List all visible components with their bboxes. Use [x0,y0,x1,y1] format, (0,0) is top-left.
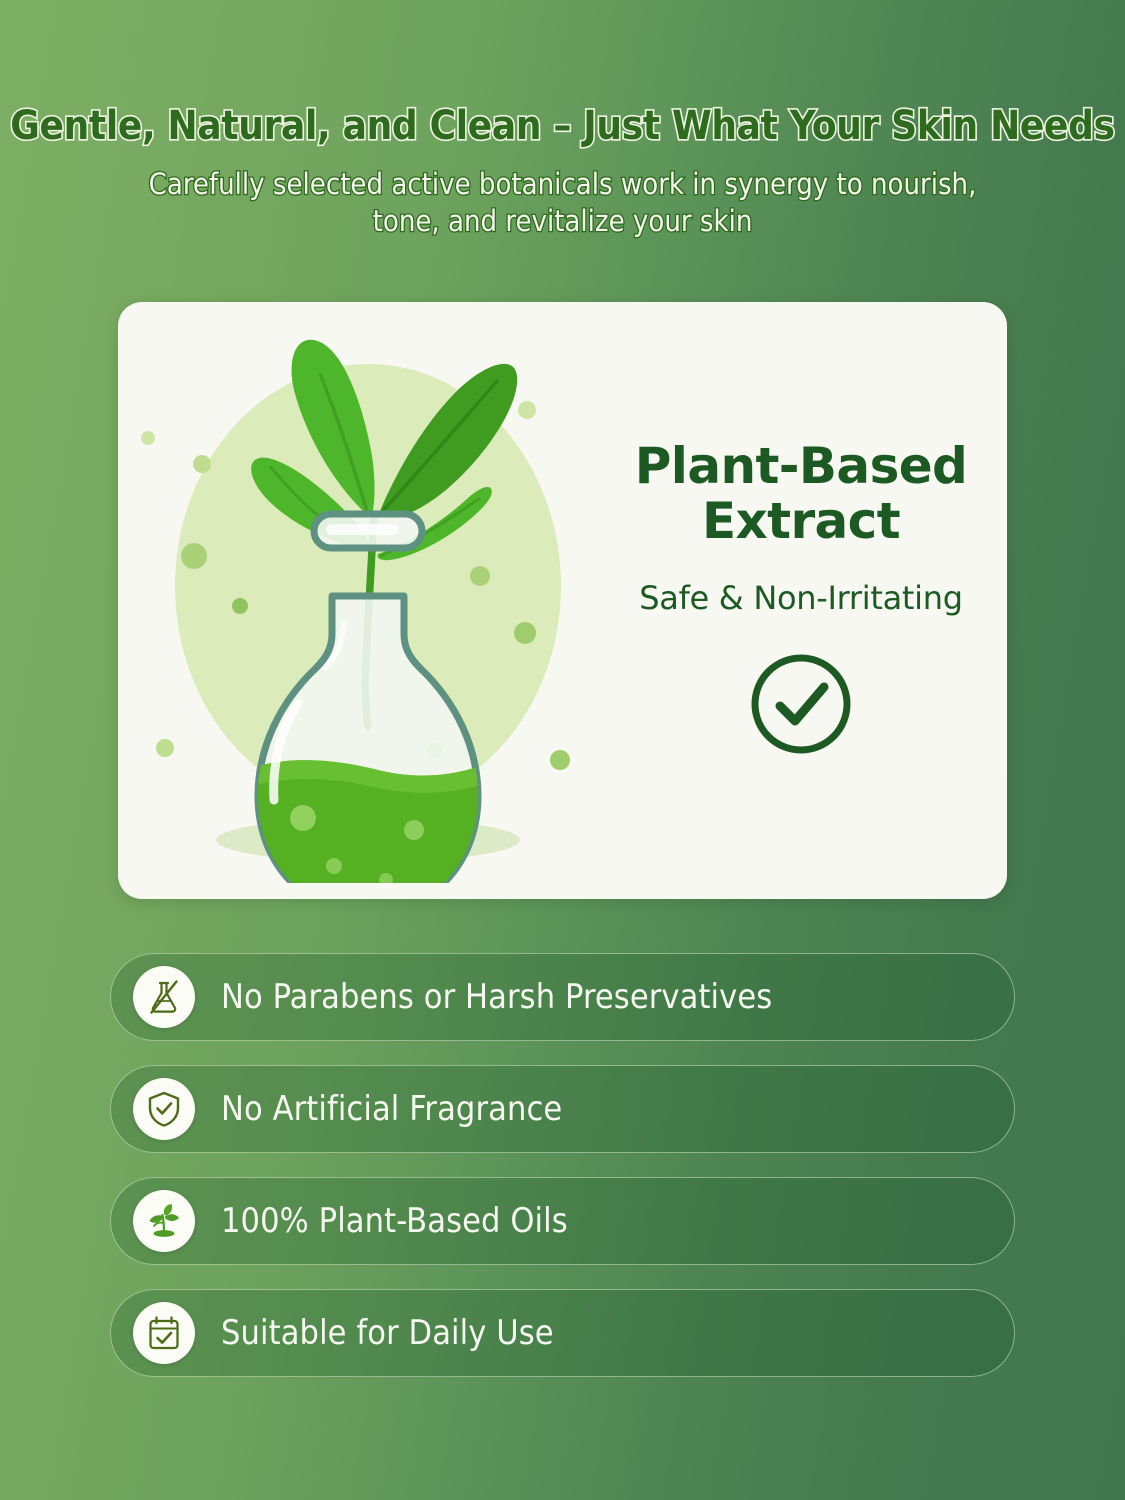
hero-title-line-2: Extract [635,494,968,549]
feature-label: Suitable for Daily Use [221,1313,554,1353]
flask-with-plant-illustration [128,318,608,883]
hero-title-line-1: Plant-Based [635,439,968,494]
feature-item-no-fragrance[interactable]: No Artificial Fragrance [110,1065,1015,1153]
sprout-icon [133,1190,195,1252]
hero-text-column: Plant-Based Extract Safe & Non-Irritatin… [615,302,1007,899]
feature-label: 100% Plant-Based Oils [221,1201,568,1241]
flask-crossed-out-icon [133,966,195,1028]
hero-illustration-column [118,302,615,899]
feature-label: No Parabens or Harsh Preservatives [221,977,772,1017]
subheadline-line-2: tone, and revitalize your skin [53,203,1073,241]
hero-subtitle: Safe & Non-Irritating [639,579,962,617]
subheadline-line-1: Carefully selected active botanicals wor… [53,166,1073,204]
calendar-check-icon [133,1302,195,1364]
shield-check-icon [133,1078,195,1140]
check-circle-icon [748,651,854,762]
hero-title: Plant-Based Extract [635,439,968,549]
feature-list: No Parabens or Harsh Preservatives No Ar… [110,953,1015,1401]
feature-item-no-parabens[interactable]: No Parabens or Harsh Preservatives [110,953,1015,1041]
feature-label: No Artificial Fragrance [221,1089,562,1129]
feature-item-plant-based-oils[interactable]: 100% Plant-Based Oils [110,1177,1015,1265]
hero-card: Plant-Based Extract Safe & Non-Irritatin… [118,302,1007,899]
page-headline: Gentle, Natural, and Clean – Just What Y… [0,104,1125,149]
feature-item-daily-use[interactable]: Suitable for Daily Use [110,1289,1015,1377]
page-subheadline: Carefully selected active botanicals wor… [53,166,1073,241]
header: Gentle, Natural, and Clean – Just What Y… [0,0,1125,241]
